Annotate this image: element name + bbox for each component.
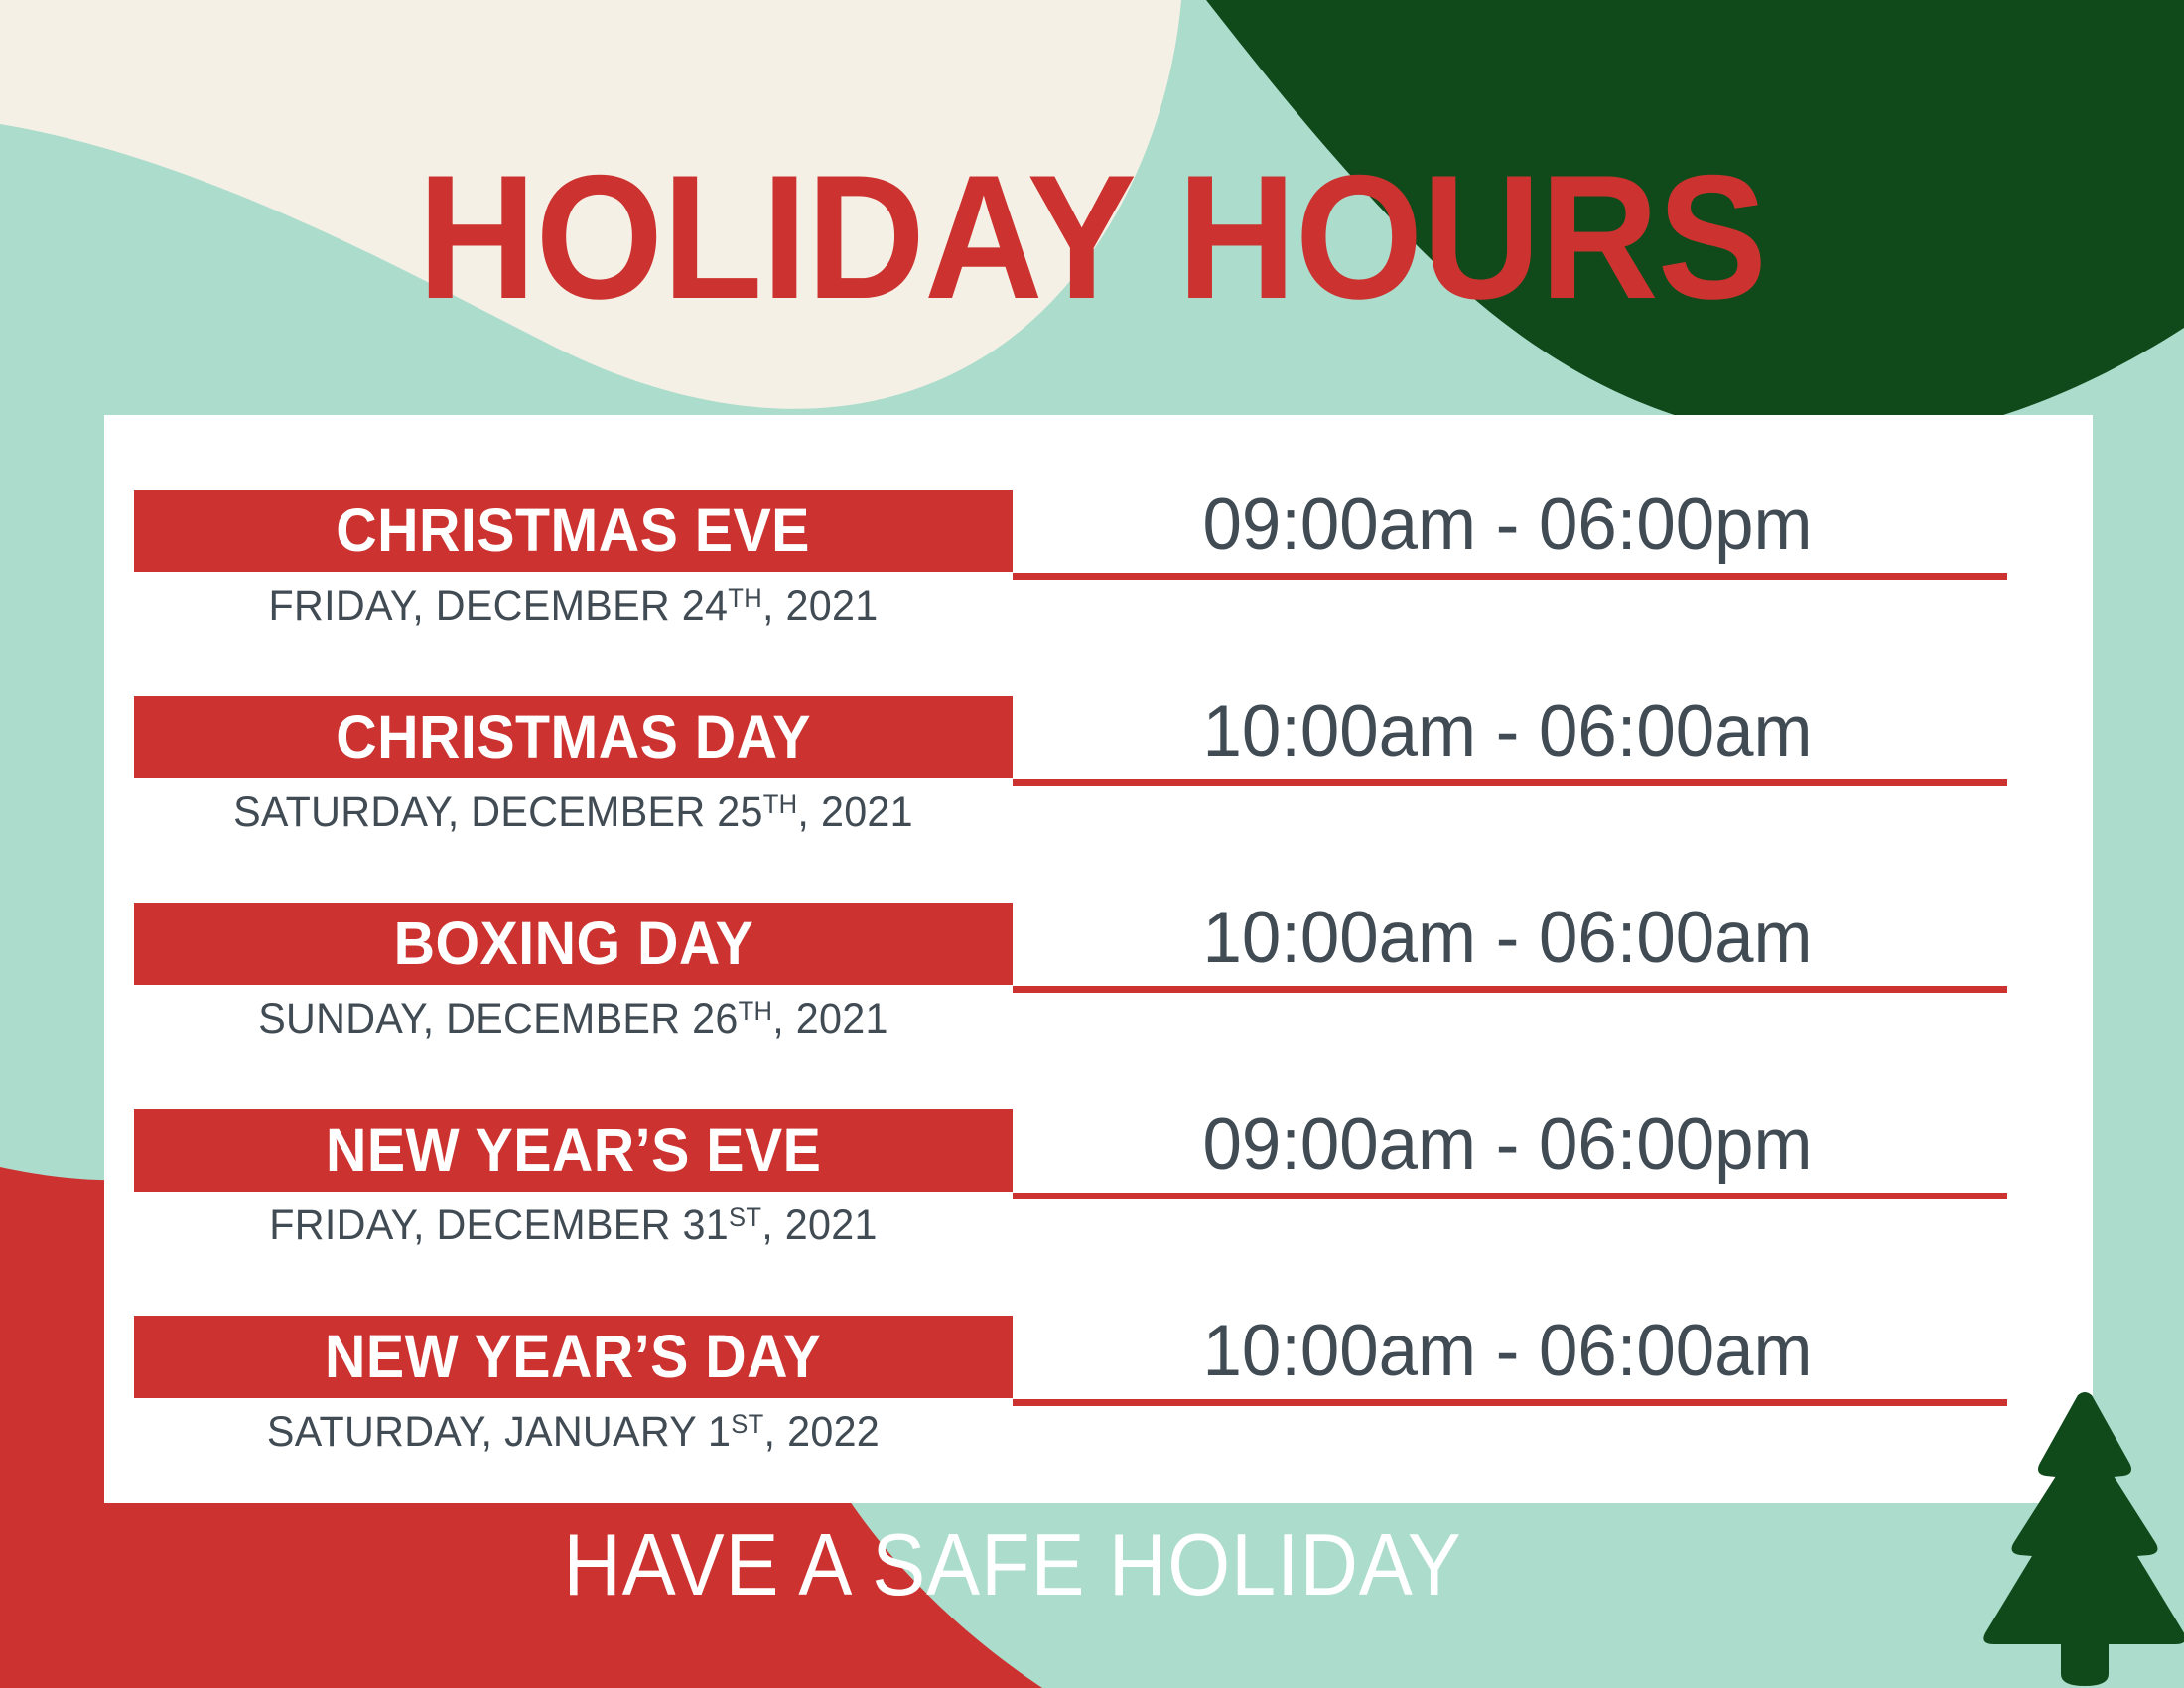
holiday-name-label: NEW YEAR’S DAY: [325, 1327, 821, 1387]
christmas-tree-icon: [1976, 1383, 2184, 1688]
holiday-date-label: FRIDAY, DECEMBER 24TH, 2021: [152, 581, 996, 631]
schedule-card: CHRISTMAS EVE 09:00am - 06:00pm FRIDAY, …: [104, 415, 2093, 1503]
holiday-hours-text: 09:00am - 06:00pm: [1202, 485, 1812, 565]
holiday-date-ordinal: TH: [728, 583, 762, 613]
holiday-name-chip: CHRISTMAS EVE: [134, 490, 1013, 572]
holiday-hours-value: 10:00am - 06:00am: [1027, 1304, 1987, 1399]
holiday-name-chip: NEW YEAR’S EVE: [134, 1109, 1013, 1192]
holiday-date-label: SUNDAY, DECEMBER 26TH, 2021: [152, 994, 996, 1044]
holiday-date-prefix: FRIDAY, DECEMBER 31: [269, 1201, 729, 1249]
page-title: HOLIDAY HOURS: [76, 149, 2108, 326]
holiday-name-chip: CHRISTMAS DAY: [134, 696, 1013, 778]
holiday-hours-poster: HOLIDAY HOURS CHRISTMAS EVE 09:00am - 06…: [0, 0, 2184, 1688]
holiday-name-label: NEW YEAR’S EVE: [326, 1120, 821, 1181]
holiday-date-ordinal: TH: [739, 996, 773, 1026]
holiday-date-prefix: FRIDAY, DECEMBER 24: [269, 582, 729, 630]
holiday-name-chip: BOXING DAY: [134, 903, 1013, 985]
holiday-name-chip: NEW YEAR’S DAY: [134, 1316, 1013, 1398]
holiday-hours-value: 09:00am - 06:00pm: [1027, 1097, 1987, 1193]
hours-underline: [1013, 573, 2007, 580]
holiday-date-label: SATURDAY, JANUARY 1ST, 2022: [152, 1407, 996, 1457]
holiday-hours-text: 10:00am - 06:00am: [1202, 691, 1812, 772]
holiday-name-label: CHRISTMAS EVE: [337, 500, 811, 561]
holiday-date-suffix: , 2021: [772, 995, 888, 1043]
holiday-date-suffix: , 2021: [762, 582, 879, 630]
holiday-date-prefix: SATURDAY, JANUARY 1: [267, 1408, 731, 1456]
holiday-date-prefix: SATURDAY, DECEMBER 25: [233, 788, 763, 836]
holiday-date-ordinal: TH: [763, 789, 798, 819]
holiday-date-ordinal: ST: [731, 1409, 763, 1439]
holiday-name-label: BOXING DAY: [393, 914, 753, 974]
holiday-name-label: CHRISTMAS DAY: [336, 707, 811, 768]
hours-underline: [1013, 1193, 2007, 1199]
holiday-date-suffix: , 2022: [764, 1408, 881, 1456]
footer-message: HAVE A SAFE HOLIDAY: [81, 1517, 1945, 1613]
holiday-date-suffix: , 2021: [797, 788, 913, 836]
holiday-date-prefix: SUNDAY, DECEMBER 26: [258, 995, 738, 1043]
holiday-hours-value: 10:00am - 06:00am: [1027, 891, 1987, 986]
holiday-hours-value: 09:00am - 06:00pm: [1027, 478, 1987, 573]
holiday-hours-text: 10:00am - 06:00am: [1202, 898, 1812, 978]
holiday-hours-value: 10:00am - 06:00am: [1027, 684, 1987, 779]
holiday-hours-text: 10:00am - 06:00am: [1202, 1311, 1812, 1391]
hours-underline: [1013, 986, 2007, 993]
hours-underline: [1013, 1399, 2007, 1406]
holiday-date-suffix: , 2021: [761, 1201, 878, 1249]
holiday-date-ordinal: ST: [729, 1202, 761, 1232]
hours-underline: [1013, 779, 2007, 786]
holiday-date-label: SATURDAY, DECEMBER 25TH, 2021: [152, 787, 996, 837]
holiday-hours-text: 09:00am - 06:00pm: [1202, 1104, 1812, 1185]
holiday-date-label: FRIDAY, DECEMBER 31ST, 2021: [152, 1200, 996, 1250]
